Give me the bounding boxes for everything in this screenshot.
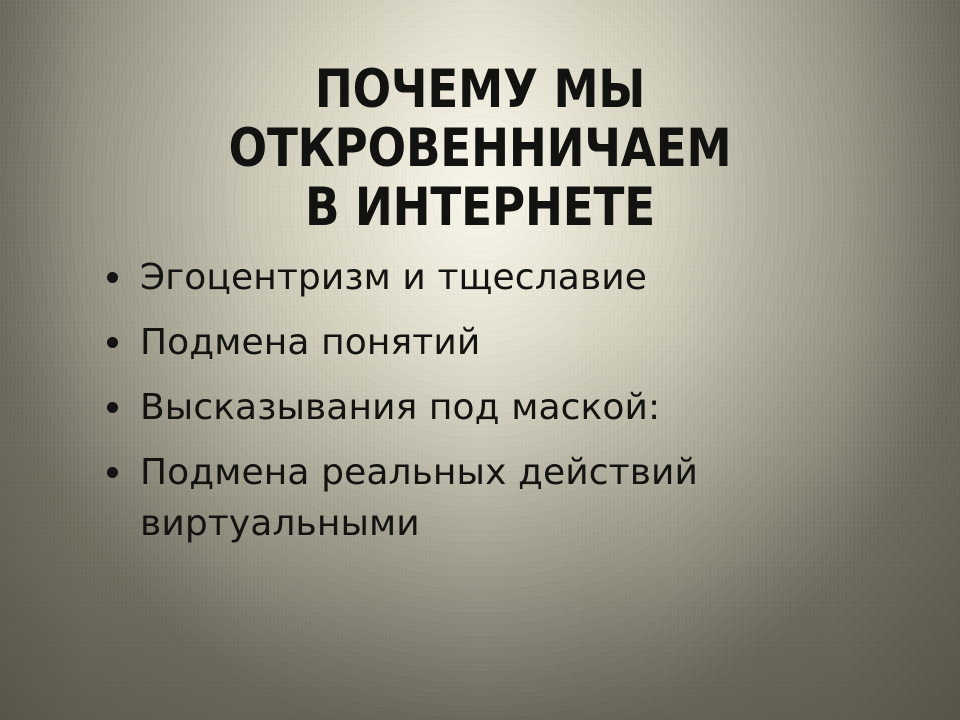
bullet-item-label: Подмена понятий xyxy=(140,317,740,368)
presentation-slide: ПОЧЕМУ МЫ ОТКРОВЕННИЧАЕМ В ИНТЕРНЕТЕ Эго… xyxy=(0,0,960,720)
bullet-list-item: Подмена понятий xyxy=(100,317,900,368)
bullet-list-item: Подмена реальных действий виртуальными xyxy=(100,447,900,549)
bullet-list-item: Высказывания под маской: xyxy=(100,382,900,433)
bullet-item-label: Эгоцентризм и тщеславие xyxy=(140,252,740,303)
bullet-dot-icon xyxy=(107,467,118,478)
slide-title: ПОЧЕМУ МЫ ОТКРОВЕННИЧАЕМ В ИНТЕРНЕТЕ xyxy=(104,60,856,237)
bullet-dot-icon xyxy=(107,402,118,413)
slide-content: ПОЧЕМУ МЫ ОТКРОВЕННИЧАЕМ В ИНТЕРНЕТЕ Эго… xyxy=(0,0,960,720)
bullet-dot-icon xyxy=(107,337,118,348)
bullet-list-item: Эгоцентризм и тщеславие xyxy=(100,252,900,303)
bullet-item-label: Высказывания под маской: xyxy=(140,382,740,433)
bullet-dot-icon xyxy=(107,272,118,283)
bullet-list: Эгоцентризм и тщеславие Подмена понятий … xyxy=(100,252,900,549)
bullet-item-label: Подмена реальных действий виртуальными xyxy=(140,447,740,549)
